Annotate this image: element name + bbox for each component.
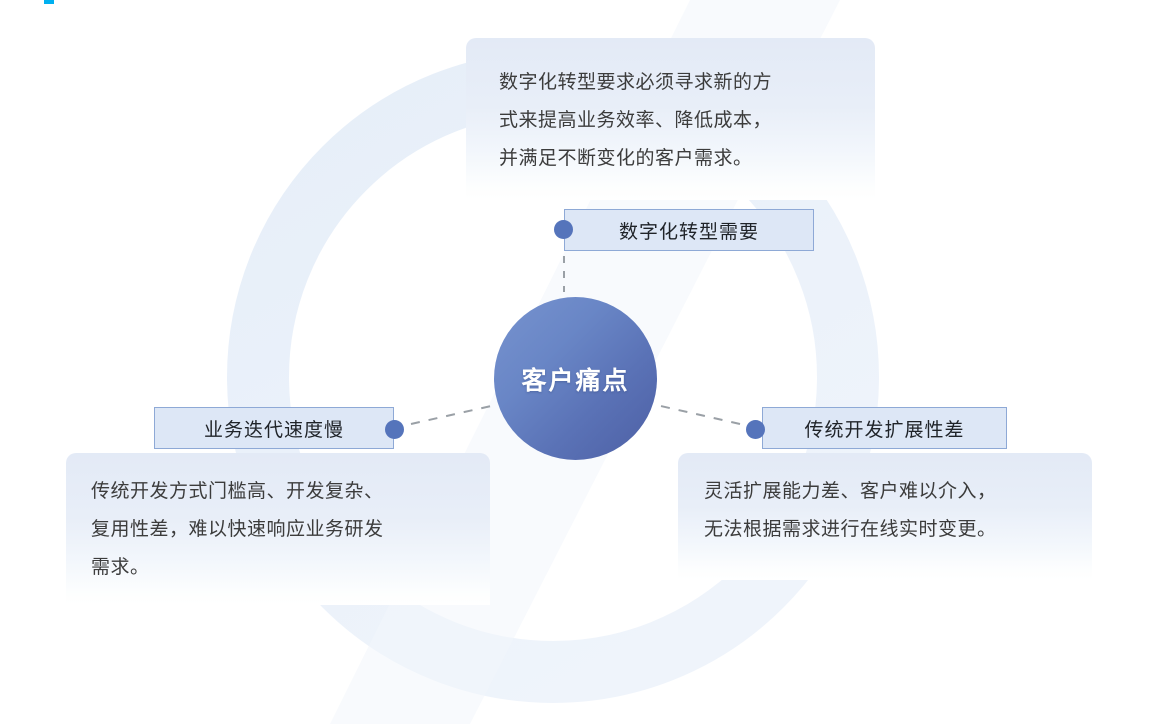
node-chip-top-label: 数字化转型需要 [619,217,759,244]
node-chip-left-label: 业务迭代速度慢 [204,415,344,442]
node-dot-top-icon [554,220,573,239]
center-node[interactable]: 客户痛点 [494,297,657,460]
detail-panel-right: 灵活扩展能力差、客户难以介入， 无法根据需求进行在线实时变更。 [678,453,1092,580]
node-chip-top[interactable]: 数字化转型需要 [564,209,814,251]
node-chip-right-label: 传统开发扩展性差 [804,415,964,442]
accent-mark-icon [44,0,54,4]
connector-left [411,404,500,424]
detail-panel-top: 数字化转型要求必须寻求新的方 式来提高业务效率、降低成本， 并满足不断变化的客户… [466,38,875,200]
detail-text-left: 传统开发方式门槛高、开发复杂、 复用性差，难以快速响应业务研发 需求。 [91,473,474,587]
detail-text-top: 数字化转型要求必须寻求新的方 式来提高业务效率、降低成本， 并满足不断变化的客户… [499,64,855,178]
center-node-label: 客户痛点 [521,361,629,397]
diagram-canvas: 数字化转型要求必须寻求新的方 式来提高业务效率、降低成本， 并满足不断变化的客户… [0,0,1150,724]
node-chip-right[interactable]: 传统开发扩展性差 [762,407,1007,449]
detail-text-right: 灵活扩展能力差、客户难以介入， 无法根据需求进行在线实时变更。 [704,473,1076,549]
node-chip-left[interactable]: 业务迭代速度慢 [154,407,394,449]
detail-panel-left: 传统开发方式门槛高、开发复杂、 复用性差，难以快速响应业务研发 需求。 [66,453,490,605]
node-dot-right-icon [746,420,765,439]
node-dot-left-icon [385,420,404,439]
connector-right [652,404,740,424]
